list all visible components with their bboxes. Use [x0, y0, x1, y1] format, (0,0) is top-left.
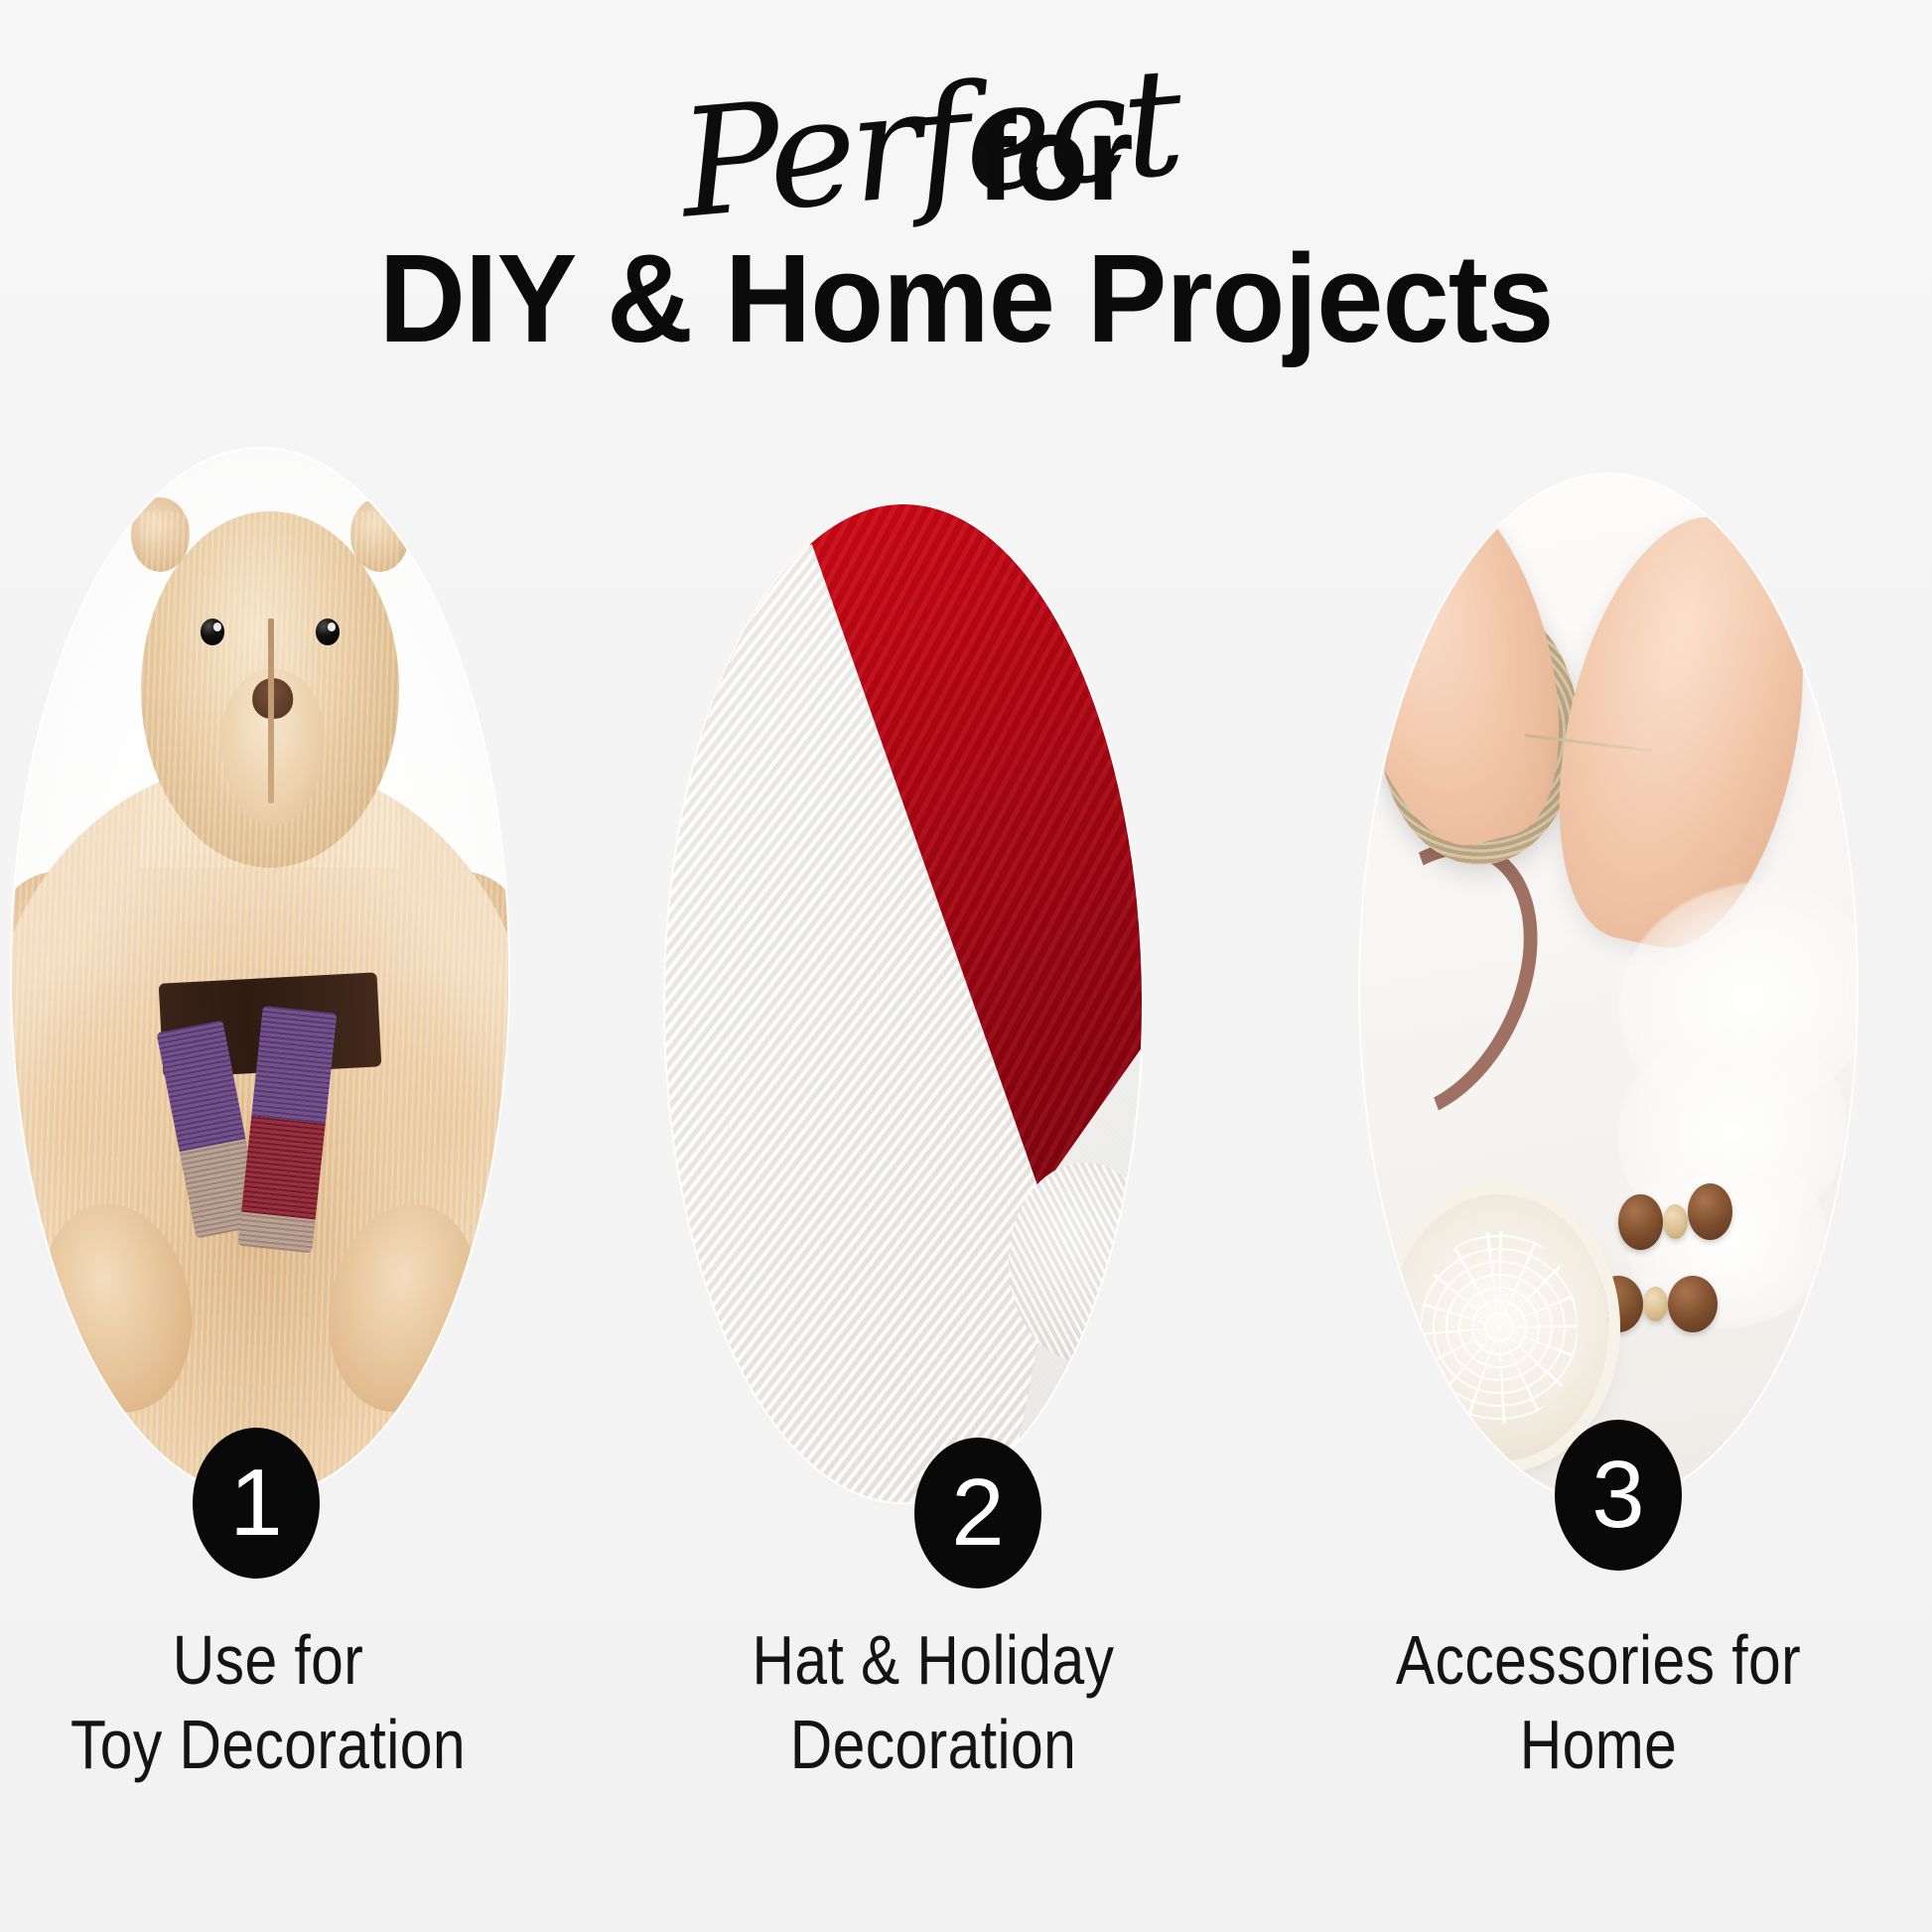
wooden-bead: [1668, 1276, 1718, 1332]
wooden-bead: [1663, 1204, 1688, 1239]
feature-panel-2: 2 Hat & Holiday Decoration: [655, 427, 1211, 1916]
wooden-bead: [1618, 1194, 1663, 1251]
panel-1-caption: Use for Toy Decoration: [35, 1618, 501, 1788]
bear-eye-right: [316, 619, 341, 645]
panel-3-caption-line-1: Accessories for: [1365, 1618, 1832, 1703]
feature-panel-1: 1 Use for Toy Decoration: [0, 427, 546, 1916]
feature-panels: 1 Use for Toy Decoration 2 Hat & Holiday…: [0, 427, 1932, 1916]
panel-2-caption: Hat & Holiday Decoration: [700, 1618, 1167, 1788]
dreamcatcher: [1390, 1194, 1608, 1461]
panel-2-image-frame: [665, 504, 1142, 1502]
bear-mouth-line: [268, 619, 274, 804]
panel-1-caption-line-2: Toy Decoration: [35, 1703, 501, 1787]
feature-panel-3: 3 Accessories for Home: [1320, 427, 1876, 1916]
santa-hat-photo: [665, 504, 1142, 1502]
title-headline: DIY & Home Projects: [39, 230, 1893, 368]
panel-3-image-frame: [1360, 475, 1857, 1502]
teddy-bear-photo: [12, 449, 508, 1496]
dreamcatcher-web: [1421, 1231, 1578, 1424]
craft-dreamcatcher-photo: [1360, 475, 1857, 1502]
panel-2-caption-line-2: Decoration: [700, 1703, 1167, 1787]
panel-1-image-frame: [12, 449, 508, 1496]
step-badge-2: 2: [914, 1438, 1041, 1588]
wooden-bead: [1688, 1183, 1732, 1240]
panel-2-caption-line-1: Hat & Holiday: [700, 1618, 1167, 1703]
panel-3-caption: Accessories for Home: [1365, 1618, 1832, 1788]
panel-3-caption-line-2: Home: [1365, 1703, 1832, 1787]
page-title: Perfect for DIY & Home Projects: [0, 79, 1932, 368]
infographic-canvas: Perfect for DIY & Home Projects: [0, 0, 1932, 1932]
step-badge-3: 3: [1555, 1420, 1682, 1571]
scarf-band-purple: [251, 1006, 337, 1124]
scarf-band-maroon: [241, 1116, 326, 1219]
bear-head: [141, 511, 399, 868]
bear-eye-left: [201, 619, 225, 645]
wooden-bead: [1643, 1287, 1668, 1321]
step-badge-1: 1: [193, 1428, 320, 1579]
title-line-one: Perfect for: [0, 79, 1932, 228]
panel-1-caption-line-1: Use for: [35, 1618, 501, 1703]
title-for-word: for: [976, 97, 1132, 218]
